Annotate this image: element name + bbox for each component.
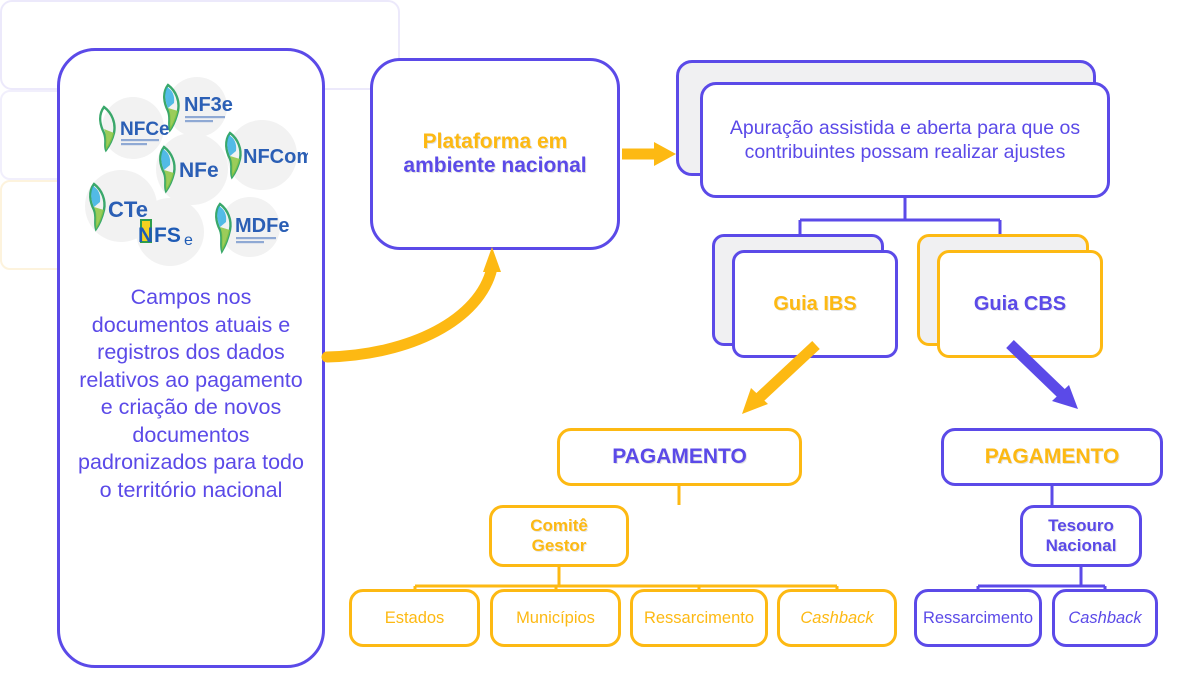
platform-title-line2: ambiente nacional	[403, 154, 586, 178]
svg-text:NFCom: NFCom	[243, 146, 308, 168]
apuracao-text: Apuração assistida e aberta para que os …	[710, 116, 1100, 165]
comite-gestor-line2: Gestor	[532, 536, 587, 555]
mdfe-logo: MDFe	[206, 199, 294, 255]
nfe-logo: NFe	[150, 143, 234, 195]
cashback-ibs-label: Cashback	[800, 609, 873, 628]
tesouro-line2: Nacional	[1046, 536, 1117, 555]
source-panel-text: Campos nos documentos atuais e registros…	[73, 284, 309, 504]
apuracao-card: Apuração assistida e aberta para que os …	[700, 82, 1110, 198]
estados-box: Estados	[349, 589, 480, 647]
municipios-box: Municípios	[490, 589, 621, 647]
platform-title-line1: Plataforma em	[423, 130, 568, 154]
svg-text:FS: FS	[154, 224, 181, 247]
cashback-cbs-box: Cashback	[1052, 589, 1158, 647]
comite-gestor-label: Comitê Gestor	[530, 516, 588, 557]
source-documents-panel: NFCe NF3e	[57, 48, 325, 668]
svg-text:e: e	[184, 232, 193, 249]
fiscal-document-logos: NFCe NF3e	[76, 81, 306, 276]
guia-ibs-label: Guia IBS	[773, 293, 856, 316]
ressarcimento-ibs-box: Ressarcimento	[630, 589, 768, 647]
svg-text:NF3e: NF3e	[184, 94, 233, 116]
svg-text:N: N	[138, 224, 153, 247]
comite-gestor-line1: Comitê	[530, 516, 588, 535]
nf3e-logo: NF3e	[154, 81, 240, 133]
pagamento-cbs-box: PAGAMENTO	[941, 428, 1163, 486]
tesouro-nacional-label: Tesouro Nacional	[1046, 516, 1117, 557]
diagram-canvas: NFCe NF3e	[0, 0, 1204, 684]
platform-box: Plataforma em ambiente nacional	[370, 58, 620, 250]
ressarcimento-cbs-box: Ressarcimento	[914, 589, 1042, 647]
pagamento-ibs-box: PAGAMENTO	[557, 428, 802, 486]
guia-ibs-card: Guia IBS	[732, 250, 898, 358]
comite-gestor-box: Comitê Gestor	[489, 505, 629, 567]
pagamento-ibs-label: PAGAMENTO	[612, 445, 747, 469]
pagamento-cbs-label: PAGAMENTO	[985, 445, 1120, 469]
municipios-label: Municípios	[516, 609, 595, 628]
cashback-ibs-box: Cashback	[777, 589, 897, 647]
guia-cbs-label: Guia CBS	[974, 293, 1066, 316]
ressarcimento-cbs-label: Ressarcimento	[923, 609, 1033, 628]
tesouro-line1: Tesouro	[1048, 516, 1114, 535]
guia-cbs-card: Guia CBS	[937, 250, 1103, 358]
svg-text:MDFe: MDFe	[235, 215, 289, 237]
cashback-cbs-label: Cashback	[1068, 609, 1141, 628]
ressarcimento-ibs-label: Ressarcimento	[644, 609, 754, 628]
svg-text:NFe: NFe	[179, 159, 219, 182]
tesouro-nacional-box: Tesouro Nacional	[1020, 505, 1142, 567]
nfse-logo: N FS e	[132, 209, 208, 255]
estados-label: Estados	[385, 609, 445, 628]
